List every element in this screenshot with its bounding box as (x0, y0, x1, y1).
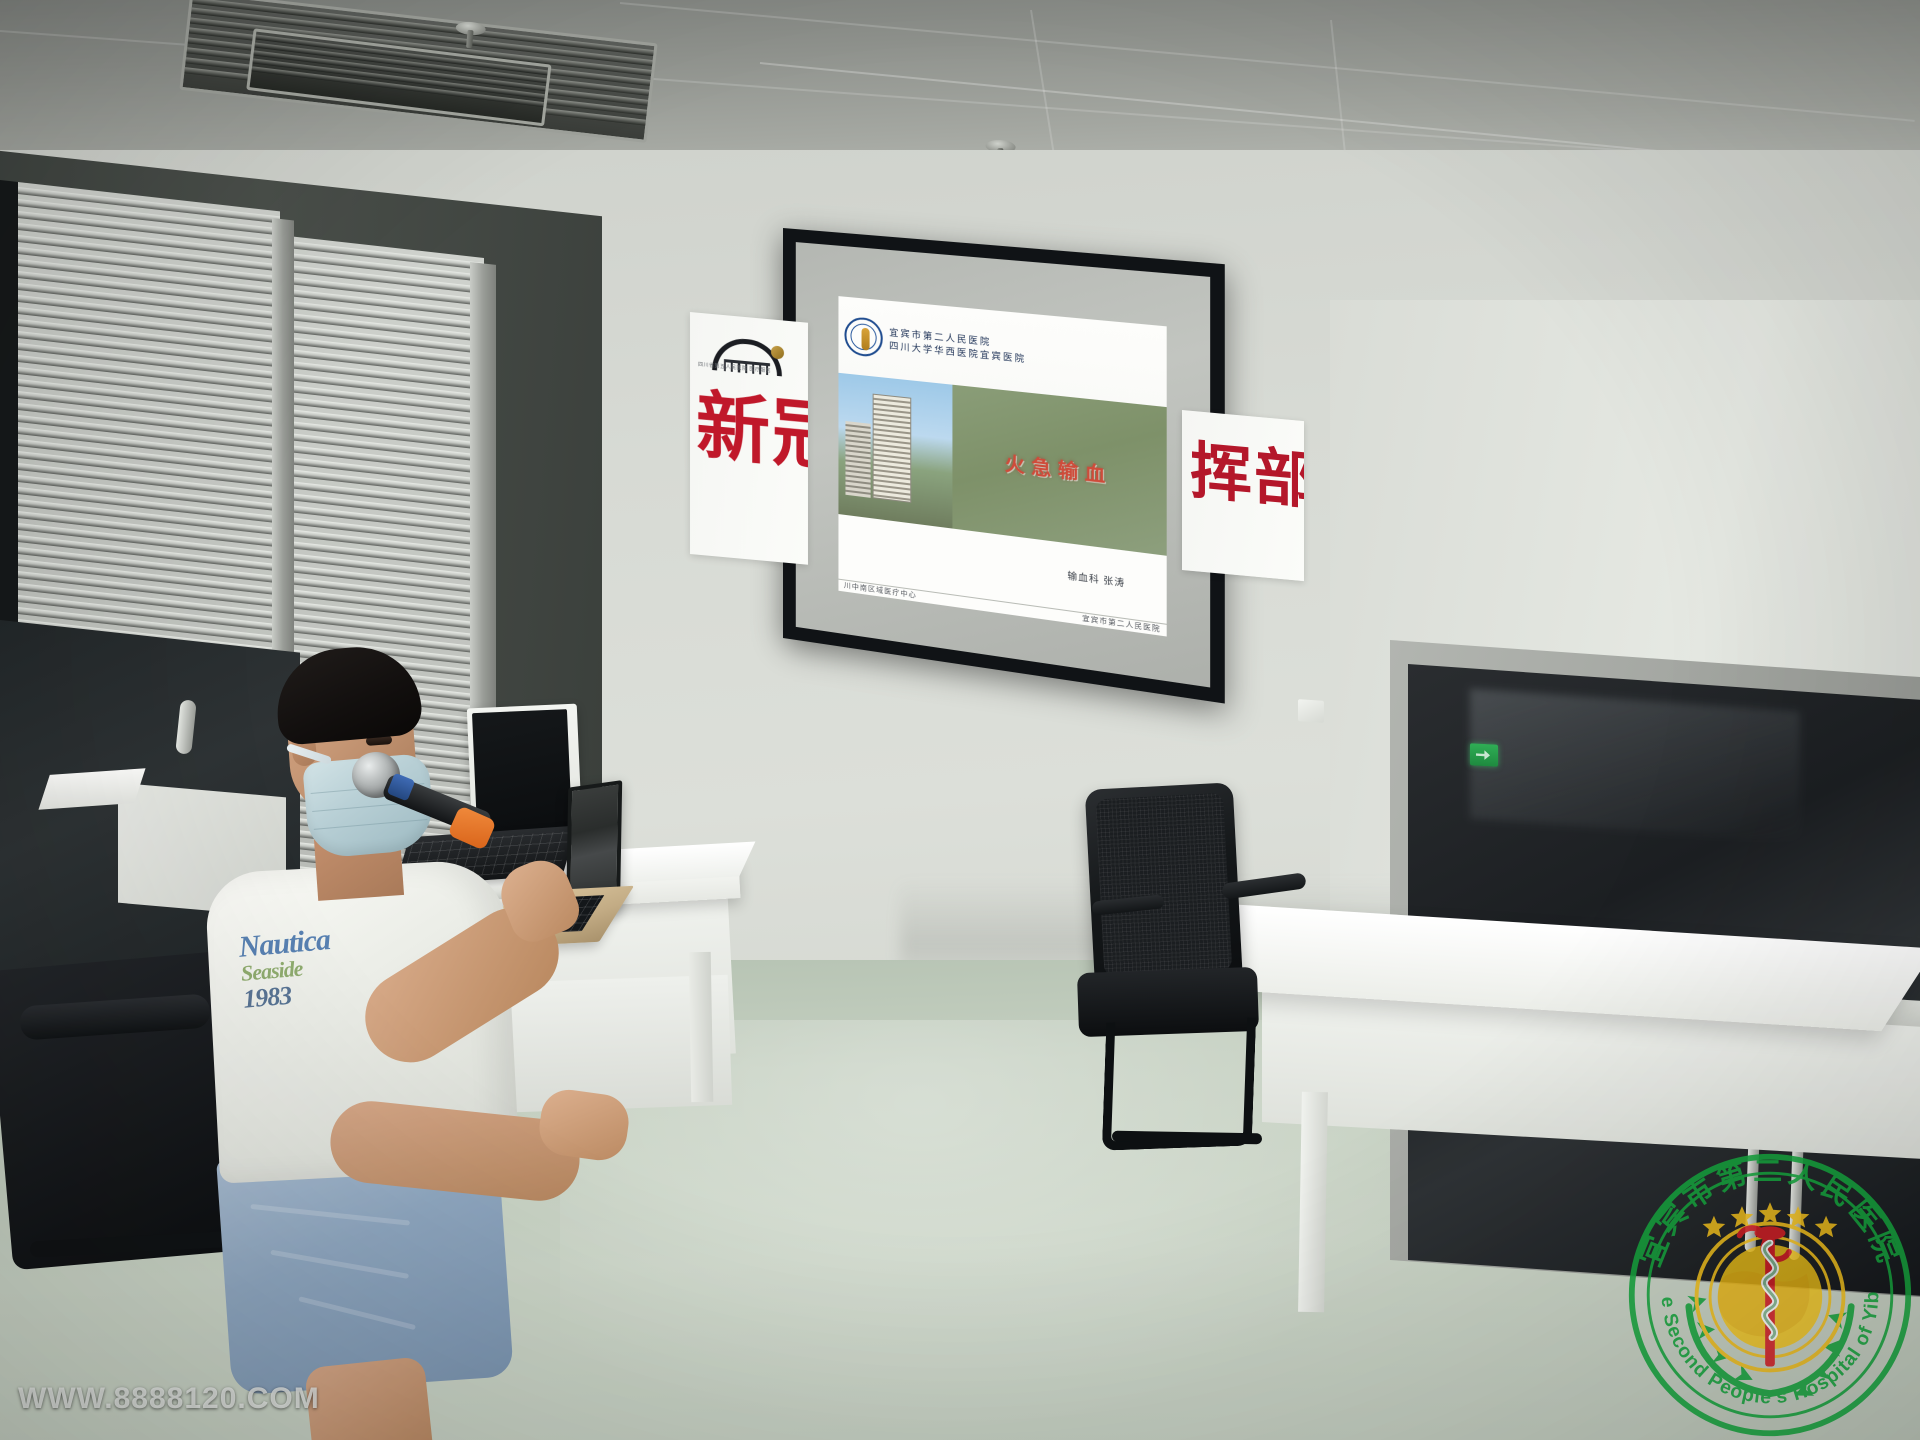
poster-left-text: 新冠 (696, 391, 806, 473)
poster-right-text: 挥部 (1190, 441, 1300, 513)
presentation-slide: 宜宾市第二人民医院 四川大学华西医院宜宾医院 火急输血 输血科 张涛 川中南区域… (839, 296, 1166, 636)
desk-right-leg (1298, 1092, 1328, 1312)
slide-main-title: 火急输血 (1005, 448, 1112, 489)
slide-title-band: 火急输血 (953, 385, 1166, 556)
sprinkler-icon (454, 21, 487, 54)
office-chair-back[interactable] (1085, 782, 1244, 995)
ceiling-tile-seam (620, 2, 1915, 122)
desk-left-leg (689, 952, 714, 1102)
wall-outlet[interactable] (1298, 699, 1324, 723)
presenter-person: Nautica Seaside 1983 (120, 640, 560, 1440)
chair-mesh (1095, 793, 1232, 977)
person-leg (304, 1356, 436, 1440)
conference-room-photo: 宜宾市第二人民医院 四川大学华西医院宜宾医院 火急输血 输血科 张涛 川中南区域… (0, 0, 1920, 1440)
door-reflection (1470, 688, 1800, 841)
exit-sign-icon (1470, 743, 1498, 766)
wall-poster-left: 四川省第五人民医院 医疗服务中心 新冠 (690, 312, 808, 565)
slide-building-photo (839, 373, 953, 529)
slide-org-lines: 宜宾市第二人民医院 四川大学华西医院宜宾医院 (889, 328, 1026, 365)
person-hair (272, 642, 423, 746)
hospital-emblem-icon (845, 316, 883, 358)
slide-presenter: 输血科 张涛 (1067, 568, 1125, 589)
building-tower-secondary (846, 421, 871, 498)
tshirt-print: Nautica Seaside 1983 (238, 926, 359, 1085)
wall-poster-right: 挥部 (1182, 410, 1304, 581)
tshirt-print-line3: 1983 (242, 977, 352, 1012)
poster-logo-icon (708, 334, 788, 385)
building-tower (873, 393, 912, 503)
projector-screen[interactable]: 宜宾市第二人民医院 四川大学华西医院宜宾医院 火急输血 输血科 张涛 川中南区域… (783, 228, 1225, 704)
